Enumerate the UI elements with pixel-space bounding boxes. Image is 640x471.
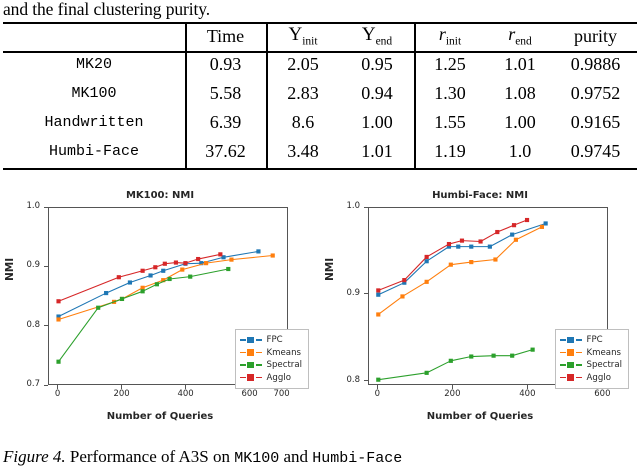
- data-point: [153, 265, 157, 269]
- header-r-init: rinit: [414, 22, 486, 50]
- x-tick-label: 400: [171, 389, 201, 399]
- legend-label: Agglo: [587, 373, 611, 383]
- x-tick-label: 600: [235, 389, 265, 399]
- row-name: MK100: [3, 79, 185, 108]
- data-point: [510, 354, 514, 358]
- data-point: [141, 269, 145, 273]
- x-axis-label: Number of Queries: [320, 411, 640, 422]
- legend-item-kmeans[interactable]: Kmeans: [240, 347, 302, 360]
- cell-upsilon-end: 1.00: [340, 108, 414, 137]
- cell-upsilon-init: 2.05: [266, 50, 340, 79]
- cell-r-init: 1.30: [414, 79, 486, 108]
- data-point: [155, 282, 159, 286]
- cell-upsilon-end: 1.01: [340, 137, 414, 166]
- y-tick-label: 0.9: [330, 288, 360, 298]
- data-point: [491, 354, 495, 358]
- caption-figure-number: Figure 4.: [3, 447, 66, 466]
- data-point: [117, 275, 121, 279]
- data-point: [540, 225, 544, 229]
- data-point: [56, 317, 60, 321]
- header-blank: [3, 22, 185, 50]
- caption-text-1: Performance of A3S on: [70, 447, 230, 466]
- data-point: [56, 299, 60, 303]
- legend-swatch-spectral: [560, 360, 582, 370]
- data-point: [425, 255, 429, 259]
- data-point: [229, 258, 233, 262]
- data-point: [531, 348, 535, 352]
- legend-swatch-kmeans: [560, 348, 582, 358]
- data-point: [188, 275, 192, 279]
- data-point: [196, 257, 200, 261]
- data-point: [425, 259, 429, 263]
- x-tick-label: 600: [587, 389, 617, 399]
- data-point: [376, 378, 380, 382]
- data-point: [469, 260, 473, 264]
- chart-legend: FPCKmeansSpectralAgglo: [235, 329, 309, 389]
- cell-purity: 0.9752: [554, 79, 637, 108]
- data-point: [493, 257, 497, 261]
- y-tick-mark: [44, 266, 48, 267]
- legend-swatch-agglo: [560, 373, 582, 383]
- y-tick-label: 1.0: [10, 201, 40, 211]
- chart-mk100: MK100: NMI NMI Number of Queries 0.70.80…: [0, 186, 320, 434]
- legend-item-agglo[interactable]: Agglo: [560, 372, 622, 385]
- legend-item-fpc[interactable]: FPC: [560, 334, 622, 347]
- legend-item-spectral[interactable]: Spectral: [560, 359, 622, 372]
- data-point: [141, 289, 145, 293]
- data-point: [425, 280, 429, 284]
- caption-text-2: and: [283, 447, 308, 466]
- data-point: [174, 260, 178, 264]
- data-point: [447, 242, 451, 246]
- y-tick-label: 0.8: [330, 375, 360, 385]
- legend-item-spectral[interactable]: Spectral: [240, 359, 302, 372]
- data-point: [495, 230, 499, 234]
- y-tick-label: 0.7: [10, 379, 40, 389]
- data-point: [488, 245, 492, 249]
- data-point: [478, 239, 482, 243]
- data-point: [56, 360, 60, 364]
- legend-label: Spectral: [587, 360, 622, 370]
- data-point: [449, 263, 453, 267]
- cell-time: 37.62: [185, 137, 266, 166]
- data-point: [525, 218, 529, 222]
- data-point: [425, 371, 429, 375]
- data-point: [168, 277, 172, 281]
- data-point: [456, 245, 460, 249]
- header-upsilon-init: Υinit: [266, 22, 340, 50]
- series-line-agglo: [59, 254, 221, 301]
- legend-swatch-fpc: [240, 335, 262, 345]
- legend-label: FPC: [267, 335, 283, 345]
- figure-page: and the final clustering purity. Time Υi…: [0, 0, 640, 471]
- table-rule-bottom: [3, 168, 637, 170]
- legend-label: Agglo: [267, 373, 291, 383]
- x-tick-label: 700: [267, 389, 297, 399]
- cell-upsilon-end: 0.94: [340, 79, 414, 108]
- data-point: [183, 261, 187, 265]
- data-point: [161, 269, 165, 273]
- cell-r-end: 1.01: [486, 50, 554, 79]
- header-upsilon-end: Υend: [340, 22, 414, 50]
- header-r-end: rend: [486, 22, 554, 50]
- x-tick-label: 200: [437, 389, 467, 399]
- cell-r-end: 1.08: [486, 79, 554, 108]
- data-point: [402, 278, 406, 282]
- legend-swatch-agglo: [240, 373, 262, 383]
- data-point: [96, 306, 100, 310]
- data-point: [256, 249, 260, 253]
- x-axis-label: Number of Queries: [0, 411, 320, 422]
- data-point: [218, 252, 222, 256]
- cell-r-init: 1.55: [414, 108, 486, 137]
- cell-upsilon-init: 8.6: [266, 108, 340, 137]
- y-tick-mark: [364, 380, 368, 381]
- cell-r-init: 1.25: [414, 50, 486, 79]
- y-tick-mark: [364, 207, 368, 208]
- legend-swatch-fpc: [560, 335, 582, 345]
- y-tick-mark: [44, 207, 48, 208]
- data-point: [120, 297, 124, 301]
- data-point: [128, 280, 132, 284]
- legend-label: FPC: [587, 335, 603, 345]
- data-point: [104, 291, 108, 295]
- header-time: Time: [185, 22, 266, 50]
- data-point: [376, 288, 380, 292]
- x-tick-label: 200: [107, 389, 137, 399]
- cell-upsilon-init: 2.83: [266, 79, 340, 108]
- data-point: [544, 221, 548, 225]
- row-name: MK20: [3, 50, 185, 79]
- legend-label: Kmeans: [587, 348, 621, 358]
- y-tick-label: 0.8: [10, 320, 40, 330]
- y-tick-mark: [44, 385, 48, 386]
- y-tick-mark: [44, 325, 48, 326]
- legend-item-kmeans[interactable]: Kmeans: [560, 347, 622, 360]
- chart-humbi-face: Humbi-Face: NMI NMI Number of Queries 0.…: [320, 186, 640, 434]
- x-tick-label: 0: [43, 389, 73, 399]
- data-point: [449, 359, 453, 363]
- x-tick-label: 400: [512, 389, 542, 399]
- cell-time: 5.58: [185, 79, 266, 108]
- data-point: [400, 294, 404, 298]
- data-point: [510, 233, 514, 237]
- legend-item-fpc[interactable]: FPC: [240, 334, 302, 347]
- cell-r-end: 1.0: [486, 137, 554, 166]
- y-axis-label: NMI: [324, 258, 336, 281]
- chart-legend: FPCKmeansSpectralAgglo: [555, 329, 629, 389]
- table-row: Handwritten 6.39 8.6 1.00 1.55 1.00 0.91…: [3, 108, 637, 137]
- series-line-agglo: [378, 220, 527, 290]
- data-point: [469, 354, 473, 358]
- row-name: Humbi-Face: [3, 137, 185, 166]
- cell-r-end: 1.00: [486, 108, 554, 137]
- data-point: [512, 223, 516, 227]
- cell-purity: 0.9165: [554, 108, 637, 137]
- data-point: [376, 312, 380, 316]
- y-tick-label: 1.0: [330, 201, 360, 211]
- header-purity: purity: [554, 22, 637, 50]
- cell-purity: 0.9886: [554, 50, 637, 79]
- legend-item-agglo[interactable]: Agglo: [240, 372, 302, 385]
- cell-r-init: 1.19: [414, 137, 486, 166]
- figure-row: MK100: NMI NMI Number of Queries 0.70.80…: [0, 186, 640, 434]
- data-point: [204, 261, 208, 265]
- chart-title: MK100: NMI: [0, 190, 320, 201]
- table-row: MK20 0.93 2.05 0.95 1.25 1.01 0.9886: [3, 50, 637, 79]
- caption-dataset-2: Humbi-Face: [312, 450, 402, 467]
- data-point: [271, 253, 275, 257]
- series-line-spectral: [59, 269, 229, 362]
- cell-upsilon-init: 3.48: [266, 137, 340, 166]
- legend-label: Spectral: [267, 360, 302, 370]
- data-point: [376, 293, 380, 297]
- legend-swatch-spectral: [240, 360, 262, 370]
- cell-purity: 0.9745: [554, 137, 637, 166]
- data-point: [148, 273, 152, 277]
- y-tick-mark: [364, 293, 368, 294]
- y-tick-label: 0.9: [10, 260, 40, 270]
- table-row: Humbi-Face 37.62 3.48 1.01 1.19 1.0 0.97…: [3, 137, 637, 166]
- legend-swatch-kmeans: [240, 348, 262, 358]
- chart-title: Humbi-Face: NMI: [320, 190, 640, 201]
- table-header-row: Time Υinit Υend rinit rend purity: [3, 22, 637, 50]
- data-point: [460, 239, 464, 243]
- caption-dataset-1: MK100: [234, 450, 279, 467]
- data-point: [180, 268, 184, 272]
- cell-time: 0.93: [185, 50, 266, 79]
- x-tick-label: 0: [362, 389, 392, 399]
- lead-paragraph: and the final clustering purity.: [3, 0, 210, 19]
- table-row: MK100 5.58 2.83 0.94 1.30 1.08 0.9752: [3, 79, 637, 108]
- data-point: [469, 245, 473, 249]
- data-point: [163, 262, 167, 266]
- row-name: Handwritten: [3, 108, 185, 137]
- data-point: [226, 267, 230, 271]
- cell-time: 6.39: [185, 108, 266, 137]
- series-line-spectral: [378, 350, 532, 380]
- data-point: [514, 238, 518, 242]
- cell-upsilon-end: 0.95: [340, 50, 414, 79]
- legend-label: Kmeans: [267, 348, 301, 358]
- figure-caption: Figure 4. Performance of A3S on MK100 an…: [3, 447, 639, 469]
